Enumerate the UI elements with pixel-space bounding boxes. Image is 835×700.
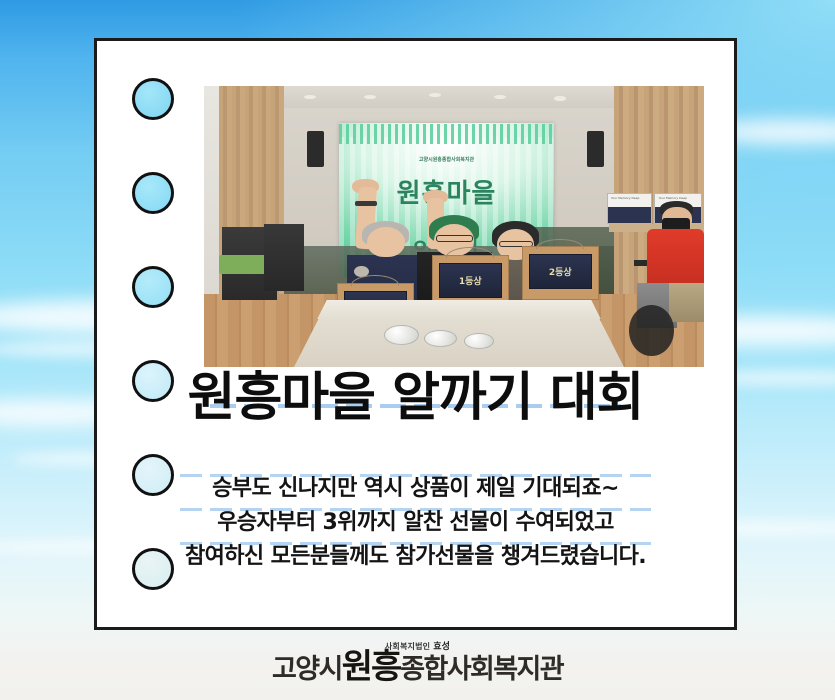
body-line-1: 승부도 신나지만 역시 상품이 제일 기대되죠~	[94, 472, 737, 506]
photo-person-4-leg-2	[669, 283, 704, 322]
photo-wheelchair-wheel	[629, 305, 674, 356]
body-text-container: 승부도 신나지만 역시 상품이 제일 기대되죠~ 우승자부터 3위까지 알찬 선…	[94, 472, 737, 574]
photo-gift-box-1: Your Memory Deep	[607, 193, 652, 224]
photo-ceiling-light-5	[554, 96, 566, 100]
photo-screen-fringe	[339, 124, 554, 144]
body-line-2: 우승자부터 3위까지 알찬 선물이 수여되었고	[94, 506, 737, 540]
page-title-container: 원흥마을 알까기 대회	[94, 372, 737, 424]
photo-person-1-wristband	[355, 201, 377, 205]
photo-game-bowl-2	[424, 330, 457, 347]
photo-game-bowl-3	[464, 333, 494, 348]
footer-org-name: 효성	[433, 642, 450, 652]
photo-prize-bag-2-label: 2등상	[529, 254, 592, 289]
photo-screen-subtitle: 고양시원흥종합사회복지관	[339, 156, 554, 163]
footer-logo-text: 고양시원흥종합사회복지관	[0, 652, 835, 685]
photo-person-2-glasses	[436, 235, 473, 242]
footer-logo: 사회복지법인 효성 고양시원흥종합사회복지관	[0, 642, 835, 685]
footer-logo-part1: 고양시	[272, 654, 342, 685]
photo-speaker-right	[587, 131, 604, 168]
photo-prize-bag-2: 2등상	[522, 246, 600, 299]
footer-org-line: 사회복지법인 효성	[0, 642, 835, 652]
photo-prize-bag-1-label: 1등상	[439, 263, 502, 298]
photo-gift-box-1-label: Your Memory Deep	[611, 196, 647, 200]
photo-gift-box-2-label: Your Memory Deep	[659, 196, 697, 200]
bullet-point-3	[132, 266, 174, 308]
photo-person-1-head	[367, 227, 405, 258]
photo-chair-2	[264, 224, 304, 291]
photo-table-top	[294, 300, 624, 320]
photo-speaker-left	[307, 131, 324, 168]
bullet-point-1	[132, 78, 174, 120]
footer-logo-part2: 종합사회복지관	[400, 654, 563, 685]
page-title: 원흥마을 알까기 대회	[188, 372, 644, 424]
photo-game-bowl-1	[384, 325, 419, 345]
bullet-point-2	[132, 172, 174, 214]
event-photo: 고양시원흥종합사회복지관 원흥마을 알까기 Your Memory Deep Y…	[204, 86, 704, 367]
footer-logo-accent: 원흥	[342, 647, 401, 687]
body-line-3: 참여하신 모든분들께도 참가선물을 챙겨드렸습니다.	[94, 540, 737, 574]
